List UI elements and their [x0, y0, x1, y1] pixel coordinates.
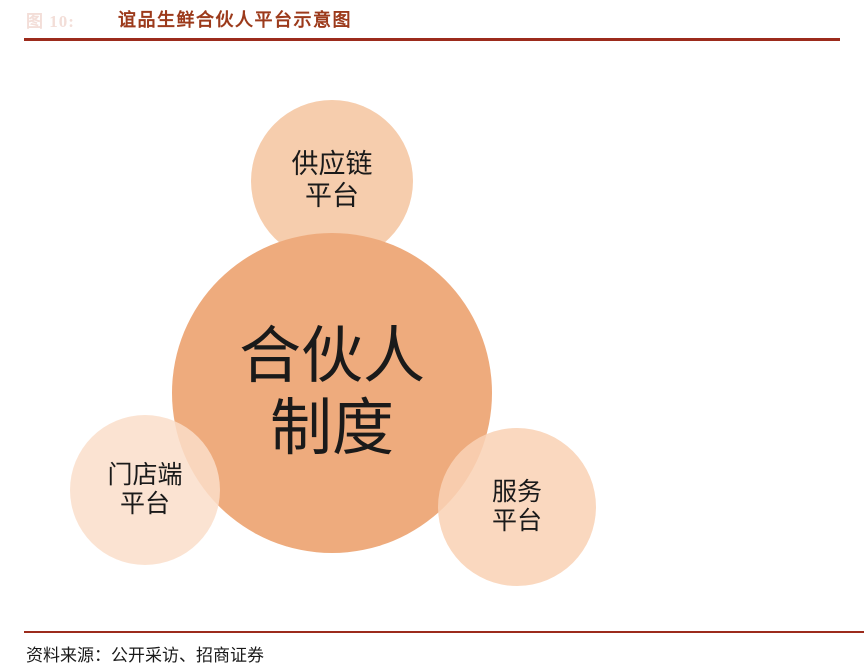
bubble-service: 服务 平台: [438, 428, 596, 586]
figure-number-label: 图 10:: [26, 7, 75, 32]
bubble-store-end: 门店端 平台: [70, 415, 220, 565]
bubble-store-end-line2: 平台: [120, 490, 170, 520]
bubble-diagram: 供应链 平台 合伙人 制度 门店端 平台 服务 平台: [0, 48, 864, 623]
bubble-supply-chain-line2: 平台: [305, 181, 359, 213]
bubble-store-end-line1: 门店端: [107, 461, 182, 491]
bubble-partner-system-line2: 制度: [270, 393, 394, 465]
figure-header: 图 10: 谊品生鲜合伙人平台示意图: [0, 0, 864, 48]
bubble-partner-system-line1: 合伙人: [239, 321, 425, 393]
bubble-supply-chain-line1: 供应链: [292, 149, 373, 181]
header-divider: [24, 38, 840, 41]
page-title: 谊品生鲜合伙人平台示意图: [118, 6, 352, 32]
bubble-service-line1: 服务: [492, 478, 542, 508]
bubble-service-line2: 平台: [492, 507, 542, 537]
footer-divider: [24, 631, 864, 633]
source-note: 资料来源：公开采访、招商证券: [26, 641, 264, 666]
